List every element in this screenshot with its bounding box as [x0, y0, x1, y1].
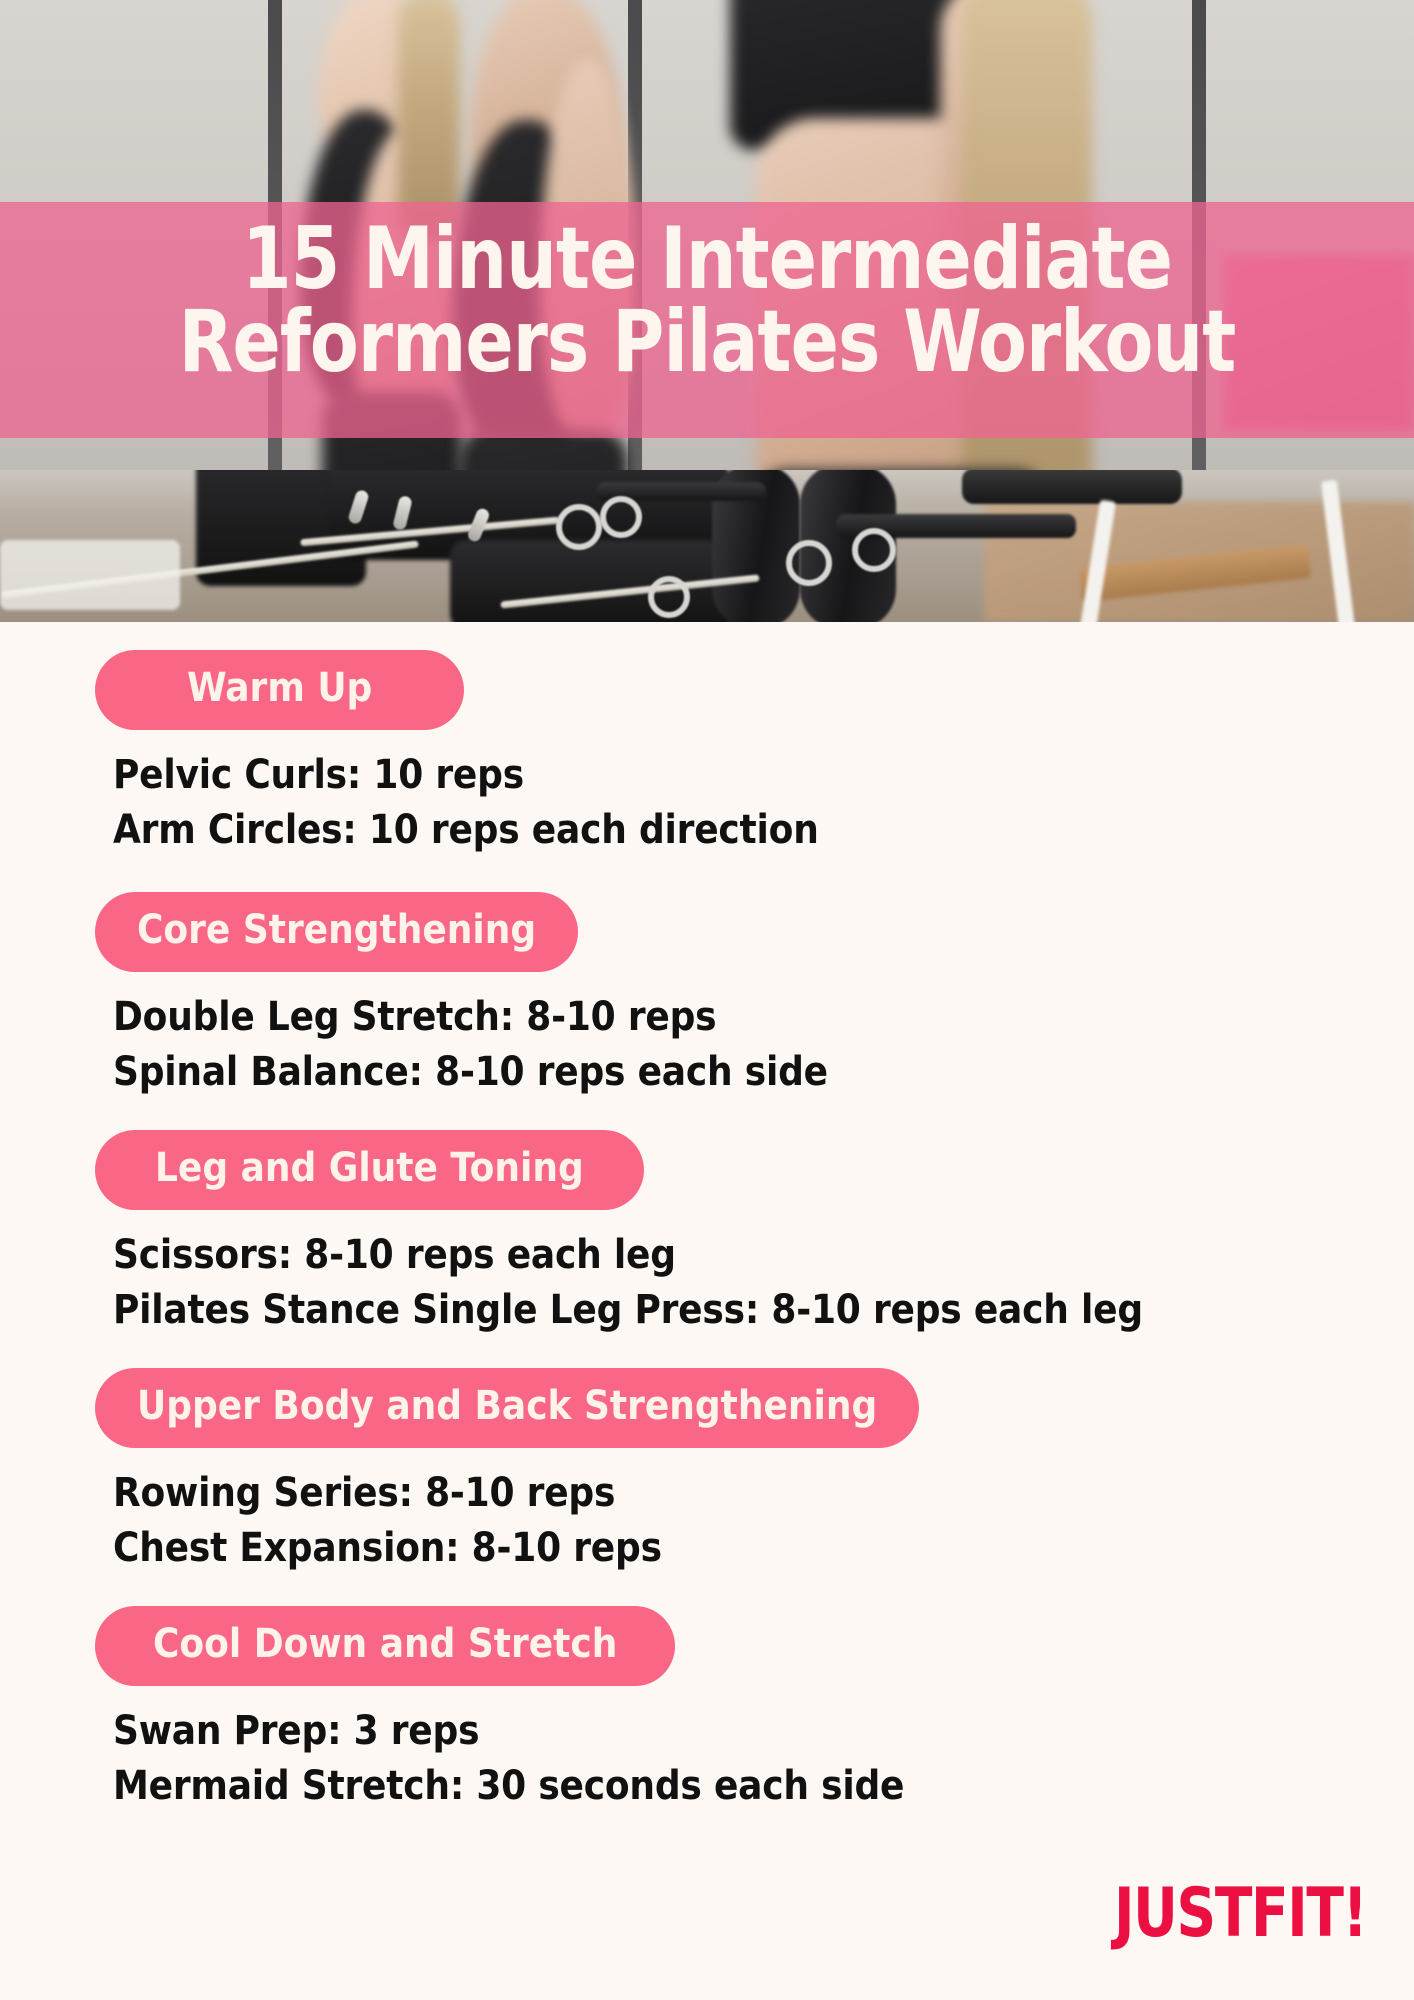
justfit-logo: JUSTFIT! — [1114, 1880, 1366, 1948]
exercise-list: Pelvic Curls: 10 reps Arm Circles: 10 re… — [113, 748, 1414, 858]
carabiner-ring — [786, 540, 832, 586]
list-item: Spinal Balance: 8-10 reps each side — [113, 1045, 1414, 1100]
list-item: Swan Prep: 3 reps — [113, 1704, 1414, 1759]
exercise-list: Rowing Series: 8-10 reps Chest Expansion… — [113, 1466, 1414, 1576]
section-badge-leg-and-glute-toning[interactable]: Leg and Glute Toning — [95, 1130, 644, 1210]
workout-sections: Warm Up Pelvic Curls: 10 reps Arm Circle… — [0, 622, 1414, 2000]
section-badge-upper-body-and-back-strengthening[interactable]: Upper Body and Back Strengthening — [95, 1368, 919, 1448]
carabiner-ring — [852, 528, 896, 572]
reformer-strap — [962, 470, 1182, 504]
list-item: Double Leg Stretch: 8-10 reps — [113, 990, 1414, 1045]
hero-photo: 15 Minute Intermediate Reformers Pilates… — [0, 0, 1414, 622]
section-badge-cool-down-and-stretch[interactable]: Cool Down and Stretch — [95, 1606, 675, 1686]
list-item: Rowing Series: 8-10 reps — [113, 1466, 1414, 1521]
exercise-list: Swan Prep: 3 reps Mermaid Stretch: 30 se… — [113, 1704, 1414, 1814]
list-item: Mermaid Stretch: 30 seconds each side — [113, 1759, 1414, 1814]
section-leg-and-glute-toning: Leg and Glute Toning Scissors: 8-10 reps… — [0, 1100, 1414, 1338]
section-upper-body-and-back-strengthening: Upper Body and Back Strengthening Rowing… — [0, 1338, 1414, 1576]
section-badge-warm-up[interactable]: Warm Up — [95, 650, 464, 730]
section-cool-down-and-stretch: Cool Down and Stretch Swan Prep: 3 reps … — [0, 1576, 1414, 1814]
exercise-list: Scissors: 8-10 reps each leg Pilates Sta… — [113, 1228, 1414, 1338]
section-core-strengthening: Core Strengthening Double Leg Stretch: 8… — [0, 858, 1414, 1100]
white-frame-bar — [0, 540, 180, 610]
section-warm-up: Warm Up Pelvic Curls: 10 reps Arm Circle… — [0, 622, 1414, 858]
title-banner: 15 Minute Intermediate Reformers Pilates… — [0, 202, 1414, 438]
list-item: Pelvic Curls: 10 reps — [113, 748, 1414, 803]
list-item: Chest Expansion: 8-10 reps — [113, 1521, 1414, 1576]
carabiner-ring — [556, 504, 602, 550]
carabiner-ring — [648, 576, 690, 618]
page-title: 15 Minute Intermediate Reformers Pilates… — [57, 202, 1358, 384]
carabiner-ring — [600, 496, 642, 538]
section-badge-core-strengthening[interactable]: Core Strengthening — [95, 892, 578, 972]
reformer-equipment — [0, 470, 1414, 622]
list-item: Pilates Stance Single Leg Press: 8-10 re… — [113, 1283, 1414, 1338]
exercise-list: Double Leg Stretch: 8-10 reps Spinal Bal… — [113, 990, 1414, 1100]
list-item: Scissors: 8-10 reps each leg — [113, 1228, 1414, 1283]
list-item: Arm Circles: 10 reps each direction — [113, 803, 1414, 858]
